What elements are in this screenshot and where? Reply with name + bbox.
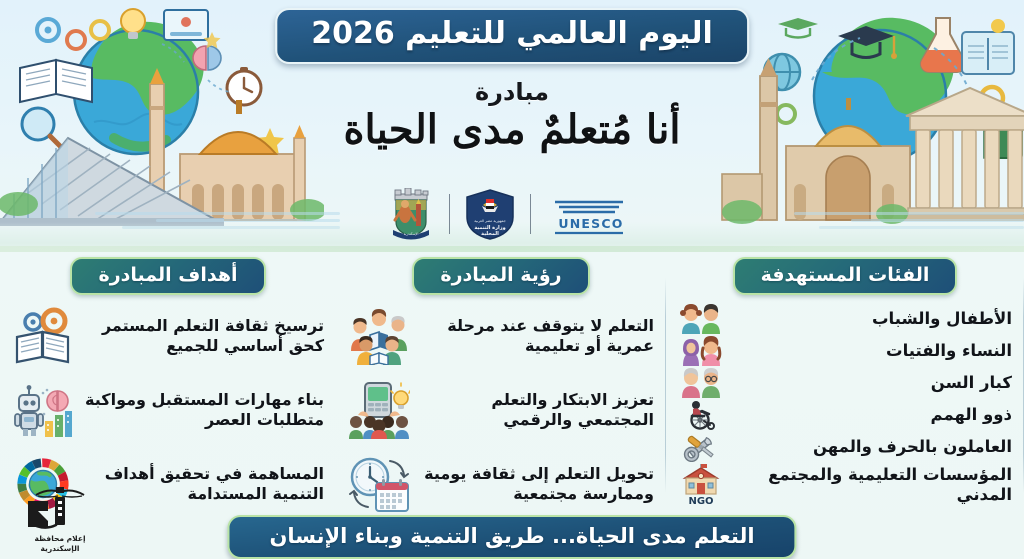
column-target-groups: الفئات المستهدفة [666, 252, 1024, 507]
list-item-text: الأطفال والشباب [731, 309, 1012, 329]
list-item[interactable]: ذوو الهمم [674, 399, 1016, 431]
gear-icon [777, 105, 795, 123]
svg-text:المحلية: المحلية [481, 231, 499, 237]
list-item-text: التعلم لا يتوقف عند مرحلة عمرية أو تعليم… [419, 316, 654, 357]
screen-icon [164, 10, 208, 40]
crowd [349, 416, 409, 439]
initiative-name-calligraphy: أنا مُتعلمٌ مدى الحياة [344, 106, 681, 153]
list-item-text: المؤسسات التعليمية والمجتمع المدني [731, 465, 1012, 505]
list-item[interactable]: NGO المؤسسات التعليمية والمجتمع المدني [674, 463, 1016, 507]
unesco-logo: UNESCO [545, 190, 637, 238]
graduation-cap-icon [778, 18, 818, 38]
media-logo-line1: إعلام محافظة [34, 534, 85, 544]
ministry-logo: جمهورية مصر العربية وزارة التنمية المحلي… [464, 188, 516, 240]
right-illustration-scene [720, 0, 1024, 234]
list-item[interactable]: العاملون بالحرف والمهن [674, 431, 1016, 463]
lightbulb-icon [391, 383, 410, 409]
open-book-icon [962, 19, 1014, 74]
section-header-groups: الفئات المستهدفة [733, 257, 958, 295]
stopwatch-icon [227, 67, 261, 105]
brain [47, 391, 68, 411]
gear-icon [37, 19, 59, 41]
wheelchair-icon [678, 400, 724, 430]
list-item-text: تعزيز الابتكار والتعلم المجتمعي والرقمي [419, 390, 654, 431]
robot [15, 385, 43, 436]
list-item-text: المساهمة في تحقيق أهداف التنمية المستدام… [83, 464, 324, 505]
list-item-text: ترسيخ ثقافة التعلم المستمر كحق أساسي للج… [83, 316, 324, 357]
list-item[interactable]: بناء مهارات المستقبل ومواكبة متطلبات الع… [8, 377, 328, 443]
infographic-poster: اليوم العالمي للتعليم 2026 مبادرة أنا مُ… [0, 0, 1024, 559]
school-ngo-icon: NGO [678, 464, 724, 506]
section-header-goals: أهداف المبادرة [70, 257, 265, 295]
column-vision: رؤية المبادرة [336, 252, 666, 507]
list-item-text: ذوو الهمم [731, 405, 1012, 425]
footer-band: التعلم مدى الحياة... طريق التنمية وبناء … [0, 507, 1024, 559]
content-columns: أهداف المبادرة [0, 252, 1024, 507]
media-logo: إعلام محافظة الإسكندرية [10, 468, 110, 554]
footer-slogan: التعلم مدى الحياة... طريق التنمية وبناء … [269, 524, 754, 548]
lighthouse-beam-icon [28, 487, 84, 528]
media-logo-line2: الإسكندرية [34, 544, 85, 554]
robot-brain-city-icon [12, 379, 74, 441]
logo-divider [530, 194, 531, 234]
list-item-text: النساء والفتيات [731, 341, 1012, 361]
wrench [682, 435, 714, 462]
svg-text:جمهورية مصر العربية: جمهورية مصر العربية [474, 219, 506, 223]
elderly-pair-icon [678, 368, 724, 398]
list-item[interactable]: التعلم لا يتوقف عند مرحلة عمرية أو تعليم… [344, 303, 658, 369]
logo-divider [449, 194, 450, 234]
logo-row: UNESCO [387, 188, 637, 240]
brain-icon [193, 46, 221, 70]
section-title-vision: رؤية المبادرة [440, 264, 561, 286]
initiative-word: مبادرة [475, 78, 549, 106]
list-item[interactable]: النساء والفتيات [674, 335, 1016, 367]
city [45, 411, 72, 437]
book-and-gears-icon [12, 305, 74, 367]
vision-items: التعلم لا يتوقف عند مرحلة عمرية أو تعليم… [344, 303, 658, 525]
women-pair-icon [678, 336, 724, 366]
list-item-text: بناء مهارات المستقبل ومواكبة متطلبات الع… [83, 390, 324, 431]
page-title-pill: اليوم العالمي للتعليم 2026 [275, 8, 749, 64]
groups-items: الأطفال والشباب [674, 303, 1016, 507]
children-pair-icon [678, 304, 724, 334]
list-item[interactable]: الأطفال والشباب [674, 303, 1016, 335]
clock-calendar-icon [348, 453, 410, 515]
list-item[interactable]: تعزيز الابتكار والتعلم المجتمعي والرقمي [344, 377, 658, 443]
page-title: اليوم العالمي للتعليم 2026 [311, 17, 713, 52]
section-header-vision: رؤية المبادرة [412, 257, 589, 295]
open-book-icon [20, 60, 92, 102]
gear-icon [91, 21, 109, 39]
magnifier-icon [22, 108, 64, 150]
book-center [370, 332, 388, 350]
list-item-text: تحويل التعلم إلى ثقافة يومية وممارسة مجت… [419, 464, 654, 505]
family-reading-icon [348, 305, 410, 367]
list-item[interactable]: ترسيخ ثقافة التعلم المستمر كحق أساسي للج… [8, 303, 328, 369]
svg-text:UNESCO: UNESCO [558, 216, 623, 231]
tablet-lightbulb-crowd-icon [348, 379, 410, 441]
gear-icon [67, 31, 85, 49]
book-front [370, 353, 388, 365]
list-item-text: كبار السن [731, 373, 1012, 393]
list-item-text: العاملون بالحرف والمهن [731, 437, 1012, 457]
section-title-groups: الفئات المستهدفة [761, 264, 930, 286]
hero-illustration-band: اليوم العالمي للتعليم 2026 مبادرة أنا مُ… [0, 0, 1024, 252]
section-title-goals: أهداف المبادرة [98, 264, 237, 286]
svg-text:NGO: NGO [688, 496, 713, 506]
list-item[interactable]: كبار السن [674, 367, 1016, 399]
alexandria-crest-logo: الإسكندرية [387, 188, 435, 240]
wrench-screwdriver-icon [678, 432, 724, 462]
footer-slogan-pill: التعلم مدى الحياة... طريق التنمية وبناء … [227, 515, 796, 559]
